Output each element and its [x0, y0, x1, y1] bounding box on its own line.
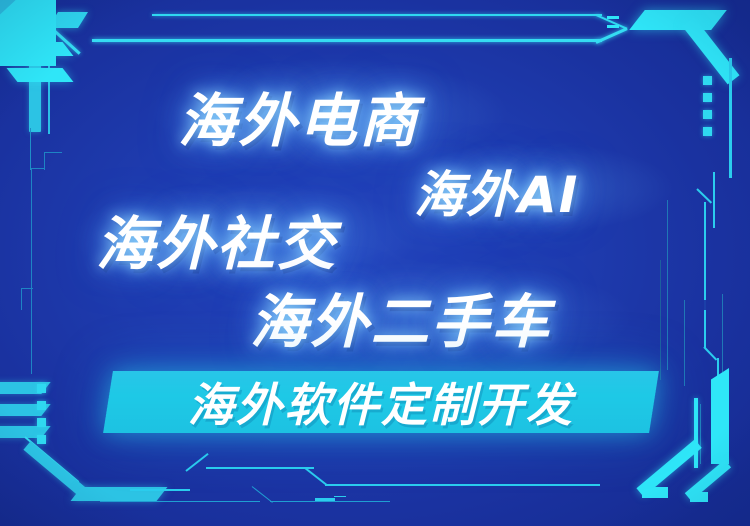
square-dot-icon — [37, 435, 46, 444]
square-dot-icon — [703, 110, 712, 119]
headline-social: 海外社交 — [96, 197, 337, 281]
square-dot-icon — [37, 401, 46, 410]
headline-ai: 海外AI — [414, 155, 579, 227]
headline-ecommerce: 海外电商 — [178, 74, 419, 158]
square-dot-icon — [703, 127, 712, 136]
right-dot-column — [703, 76, 712, 144]
square-dot-icon — [703, 76, 712, 85]
poster-canvas: 海外电商 海外AI 海外社交 海外二手车 海外软件定制开发 — [0, 0, 750, 526]
highlight-banner-label: 海外软件定制开发 — [114, 378, 648, 426]
square-dot-icon — [703, 93, 712, 102]
square-dot-icon — [37, 418, 46, 427]
headline-used-cars: 海外二手车 — [250, 275, 552, 359]
left-dot-column — [37, 384, 46, 452]
square-dot-icon — [37, 384, 46, 393]
